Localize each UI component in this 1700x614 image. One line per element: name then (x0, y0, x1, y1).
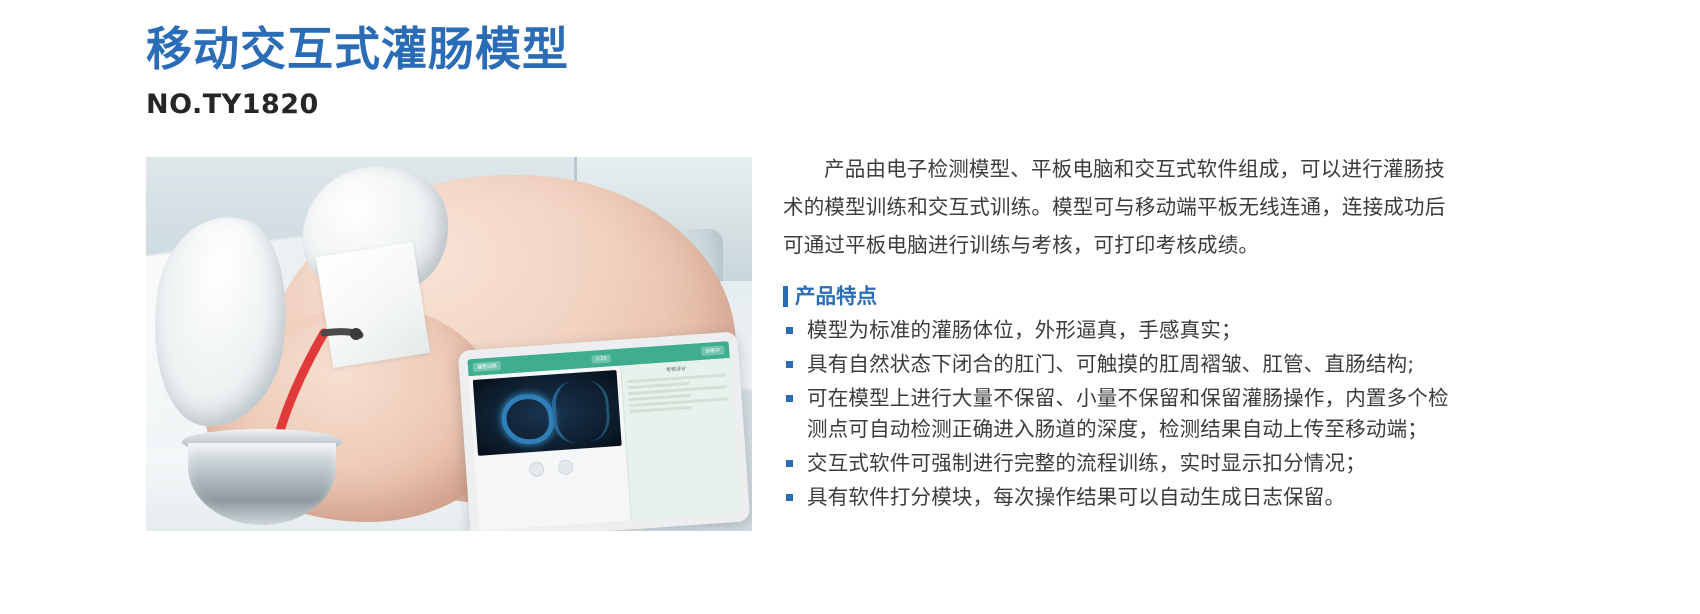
tablet-visual-panel (469, 366, 631, 531)
tablet-score-row (629, 406, 691, 413)
tablet-device: 灌肠训练 1:20 训练中 (458, 331, 751, 531)
photo-scene: 灌肠训练 1:20 训练中 (146, 157, 752, 531)
features-heading-label: 产品特点 (795, 286, 877, 307)
bullet-square-icon (786, 494, 793, 501)
page-header: 移动交互式灌肠模型 NO.TY1820 (146, 22, 766, 122)
features-list: 模型为标准的灌肠体位，外形逼真，手感真实； 具有自然状态下闭合的肛门、可触摸的肛… (783, 315, 1455, 513)
colon-strand-shape (550, 379, 611, 445)
list-item: 可在模型上进行大量不保留、小量不保留和保留灌肠操作，内置多个检测点可自动检测正确… (783, 383, 1455, 445)
feature-text: 模型为标准的灌肠体位，外形逼真，手感真实； (807, 318, 1242, 342)
tablet-control-dot[interactable] (529, 461, 545, 477)
colon-coil-shape (500, 393, 555, 447)
page-title: 移动交互式灌肠模型 (146, 22, 766, 76)
list-item: 具有自然状态下闭合的肛门、可触摸的肛周褶皱、肛管、直肠结构; (783, 349, 1455, 380)
anatomy-visualization (473, 370, 622, 456)
tablet-control-dot[interactable] (558, 459, 574, 475)
product-model-number: NO.TY1820 (146, 88, 766, 122)
tablet-control-dots (479, 456, 624, 481)
tablet-content: 考核评分 (469, 358, 741, 531)
list-item: 模型为标准的灌肠体位，外形逼真，手感真实； (783, 315, 1455, 346)
bullet-square-icon (786, 327, 793, 334)
intro-paragraph: 产品由电子检测模型、平板电脑和交互式软件组成，可以进行灌肠技术的模型训练和交互式… (783, 150, 1455, 264)
tablet-score-panel: 考核评分 (620, 358, 741, 520)
feature-text: 具有软件打分模块，每次操作结果可以自动生成日志保留。 (807, 485, 1345, 509)
heading-accent-bar (783, 286, 788, 307)
feature-text: 具有自然状态下闭合的肛门、可触摸的肛周褶皱、肛管、直肠结构; (807, 352, 1414, 376)
tablet-status-time: 1:20 (591, 354, 611, 363)
feature-text: 交互式软件可强制进行完整的流程训练，实时显示扣分情况； (807, 451, 1366, 475)
list-item: 具有软件打分模块，每次操作结果可以自动生成日志保留。 (783, 482, 1455, 513)
bullet-square-icon (786, 361, 793, 368)
product-description: 产品由电子检测模型、平板电脑和交互式软件组成，可以进行灌肠技术的模型训练和交互式… (783, 150, 1455, 516)
features-heading: 产品特点 (783, 286, 1455, 307)
list-item: 交互式软件可强制进行完整的流程训练，实时显示扣分情况； (783, 448, 1455, 479)
tablet-app-tag: 灌肠训练 (473, 361, 502, 372)
bullet-square-icon (786, 395, 793, 402)
tablet-status-state: 训练中 (701, 345, 725, 356)
tablet-screen: 灌肠训练 1:20 训练中 (467, 341, 740, 531)
product-photo: 灌肠训练 1:20 训练中 (146, 157, 752, 531)
product-spec-page: 移动交互式灌肠模型 NO.TY1820 (0, 0, 1700, 614)
feature-text: 可在模型上进行大量不保留、小量不保留和保留灌肠操作，内置多个检测点可自动检测正确… (807, 386, 1449, 441)
bullet-square-icon (786, 460, 793, 467)
